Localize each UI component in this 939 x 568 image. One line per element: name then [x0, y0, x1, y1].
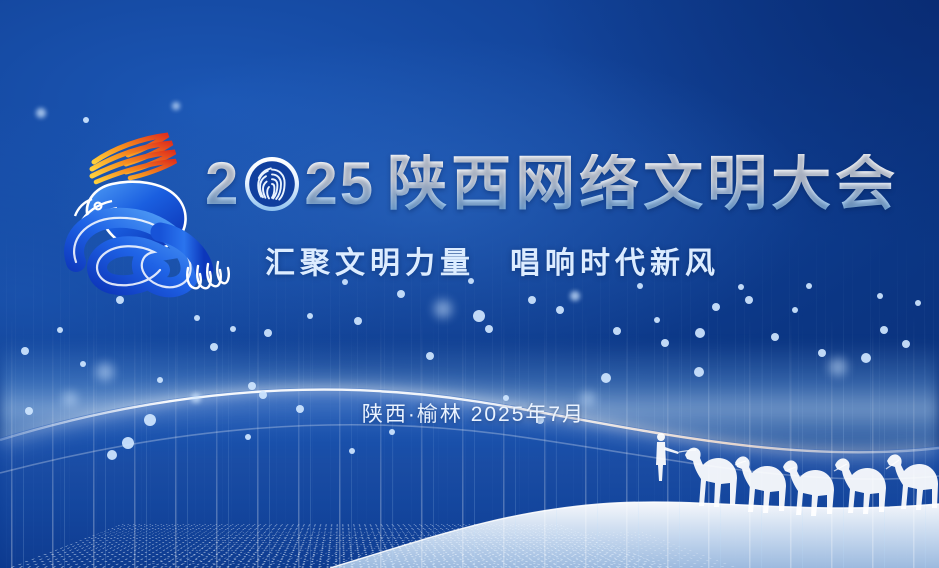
bokeh-particle	[172, 102, 180, 110]
camel-caravan	[649, 421, 939, 526]
camel-herder	[656, 433, 679, 481]
title-chinese: 陕西网络文明大会	[387, 154, 899, 214]
page-title: 2 25 陕	[205, 148, 899, 220]
poster-canvas: 2 25 陕	[0, 0, 939, 568]
camel-silhouette	[685, 448, 737, 507]
fingerprint-icon	[242, 154, 302, 214]
title-numeral-prefix: 2	[205, 154, 240, 214]
subtitle: 汇聚文明力量 唱响时代新风	[0, 238, 939, 282]
camel-silhouette	[735, 456, 786, 513]
title-numeral-suffix: 25	[304, 154, 375, 214]
wing-flourish	[92, 135, 176, 182]
